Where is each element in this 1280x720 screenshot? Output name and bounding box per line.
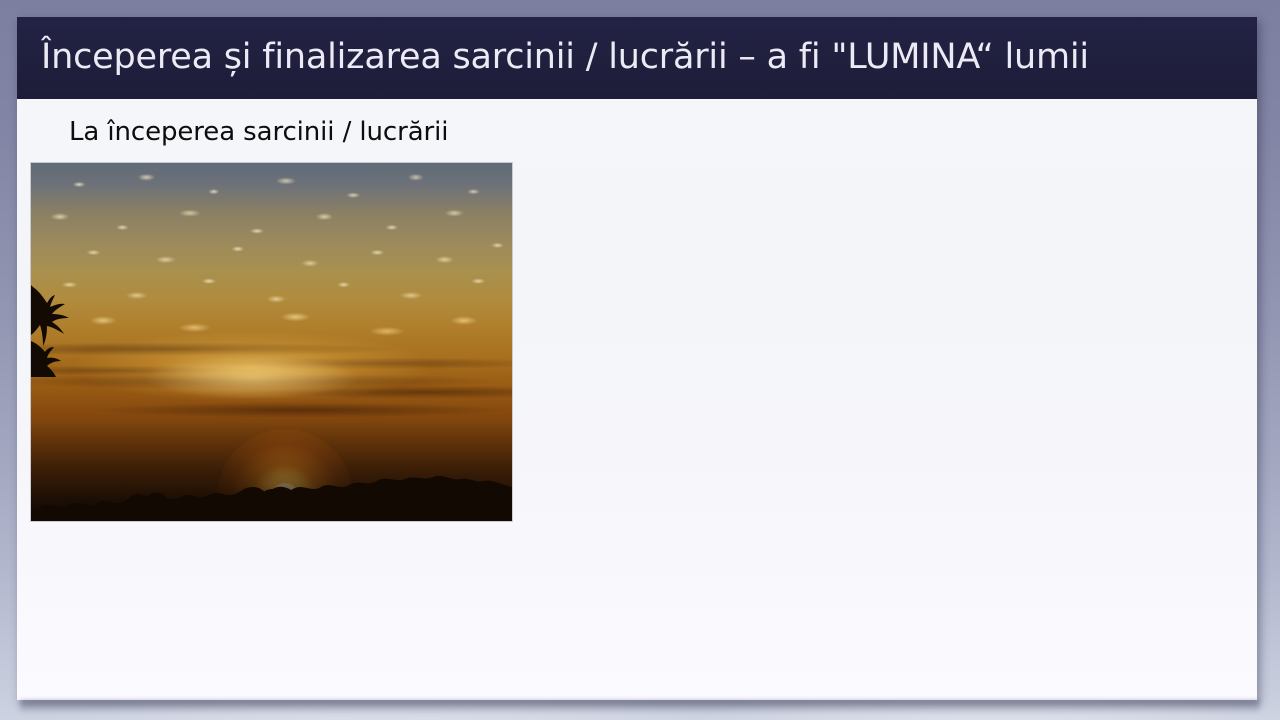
- slide-title: Începerea și finalizarea sarcinii / lucr…: [41, 40, 1237, 75]
- slide-title-banner: Începerea și finalizarea sarcinii / lucr…: [17, 17, 1257, 99]
- slide-subtitle: La începerea sarcinii / lucrării: [69, 117, 448, 147]
- presentation-viewer-backdrop: Începerea și finalizarea sarcinii / lucr…: [0, 0, 1280, 720]
- tree-branch-silhouette-icon: [31, 281, 121, 377]
- treeline-silhouette-icon: [31, 401, 512, 521]
- page-drop-shadow: [20, 700, 1260, 714]
- sunset-photo: [31, 163, 512, 521]
- slide-page: Începerea și finalizarea sarcinii / lucr…: [17, 17, 1257, 700]
